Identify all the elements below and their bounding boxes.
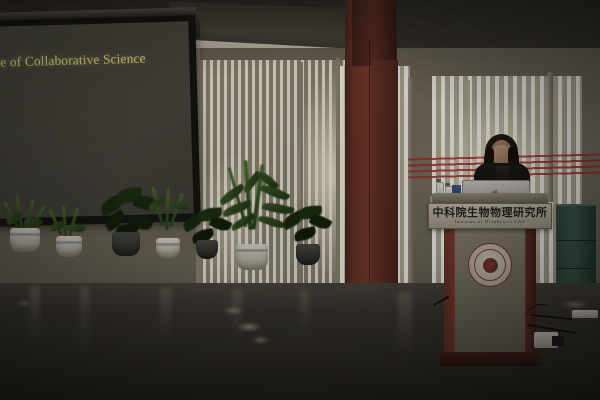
podium-base [440, 352, 540, 366]
plant-pot [56, 236, 82, 257]
pot-band [236, 249, 268, 252]
plaque-chinese-text: 中科院生物物理研究所 [433, 207, 548, 218]
cabinet-seam [556, 268, 596, 269]
floor-highlight [222, 306, 244, 315]
cabinet-seam [556, 240, 596, 241]
emblem-core [483, 258, 498, 273]
floor-highlight [252, 336, 270, 344]
bottle-cap [445, 183, 450, 186]
plant-pot [236, 244, 268, 270]
floor-highlight [16, 300, 32, 307]
utility-cabinet [556, 204, 596, 292]
power-adapter-plug [552, 336, 564, 346]
door-frame-right [548, 72, 553, 202]
plant-foliage [282, 204, 332, 248]
plaque-english-text: Institute of Biophysics CAS [455, 220, 526, 225]
plant-pot [296, 244, 320, 265]
plant-pot [112, 232, 140, 256]
plant-pot [156, 238, 180, 258]
bottle-cap [436, 179, 441, 182]
podium-plaque: 中科院生物物理研究所 Institute of Biophysics CAS [428, 203, 552, 229]
emblem-ring [474, 249, 506, 281]
podium-top-surface [432, 193, 548, 203]
column-seam [369, 40, 370, 320]
power-strip [572, 310, 598, 318]
floor-highlight [560, 300, 590, 309]
institute-emblem-icon [468, 243, 512, 287]
presentation-room-photo: ffice of Collaborative Science [0, 0, 600, 400]
slide-title: ffice of Collaborative Science [0, 49, 194, 71]
pot-band [10, 233, 40, 236]
plant-pot [196, 240, 218, 259]
column-upper-section [352, 0, 396, 66]
floor-highlight [236, 322, 262, 332]
window-mullion [336, 58, 340, 290]
pot-band [56, 241, 82, 244]
door-frame-left [408, 78, 414, 290]
plant-foliage [48, 206, 90, 240]
pot-band [156, 243, 180, 246]
plant-pot [10, 228, 40, 252]
